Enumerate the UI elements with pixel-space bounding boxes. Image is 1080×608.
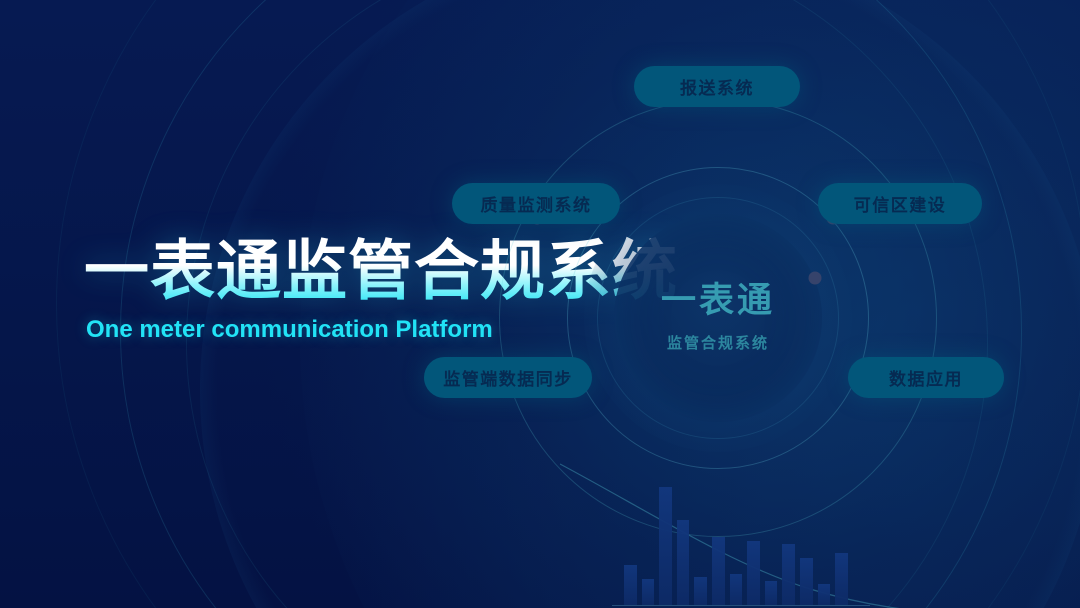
node-lower-right[interactable]: 数据应用 xyxy=(848,357,1004,398)
bar-chart-bar xyxy=(782,544,795,605)
node-upper-left[interactable]: 质量监测系统 xyxy=(452,183,620,224)
bar-chart-bar xyxy=(659,487,672,605)
bar-chart-baseline xyxy=(612,605,870,606)
slide-canvas: 一表通监管合规系统 One meter communication Platfo… xyxy=(0,0,1080,608)
bar-chart-bar xyxy=(677,520,690,605)
node-top[interactable]: 报送系统 xyxy=(634,66,800,107)
node-upper-right[interactable]: 可信区建设 xyxy=(818,183,982,224)
bar-chart-bar xyxy=(694,577,707,605)
connector-dot-mid-right xyxy=(809,272,822,285)
bar-chart-bar xyxy=(835,553,848,605)
orbit-core-disc xyxy=(614,214,822,422)
bar-chart-bar xyxy=(765,581,778,605)
bar-chart-bar xyxy=(642,579,655,605)
bar-chart-bar xyxy=(818,584,831,605)
decorative-bar-chart xyxy=(624,487,848,605)
bar-chart-bar xyxy=(800,558,813,605)
bar-chart-bar xyxy=(624,565,637,605)
node-lower-left[interactable]: 监管端数据同步 xyxy=(424,357,592,398)
bar-chart-bar xyxy=(712,537,725,605)
bar-chart-bar xyxy=(747,541,760,605)
bar-chart-bar xyxy=(730,574,743,605)
